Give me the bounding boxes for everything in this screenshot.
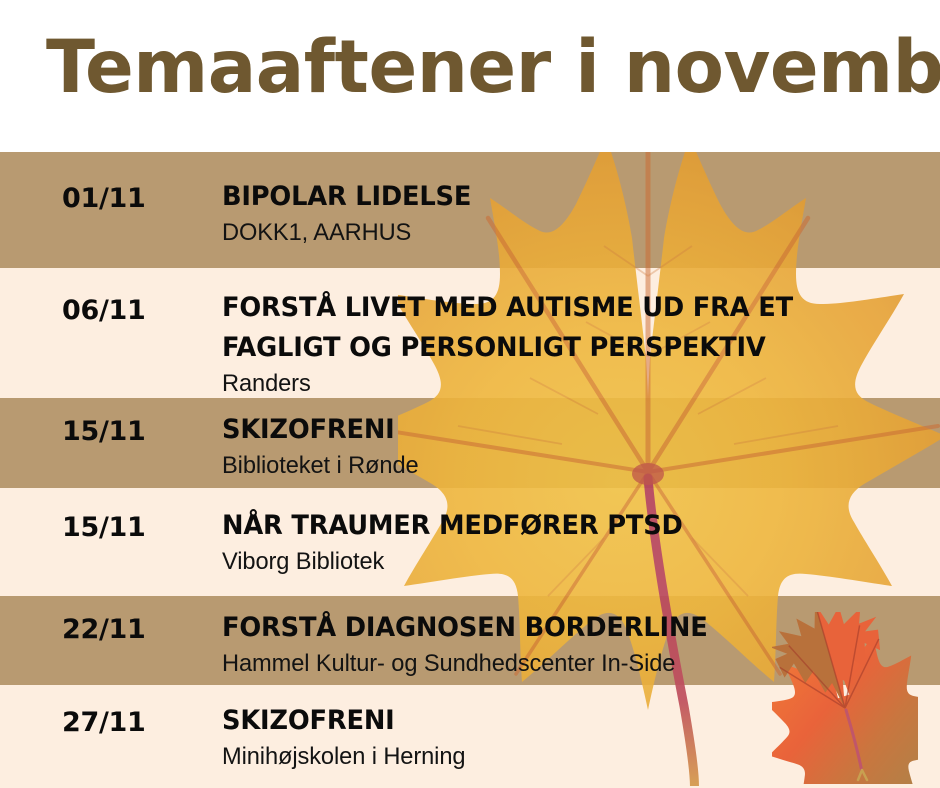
event-row-1: 01/11 BIPOLAR LIDELSE DOKK1, AARHUS [0,152,940,268]
event-date: 27/11 [62,707,146,738]
event-details: NÅR TRAUMER MEDFØRER PTSD Viborg Bibliot… [222,506,932,577]
event-title: FORSTÅ DIAGNOSEN BORDERLINE [222,608,911,648]
event-venue: Randers [222,368,921,399]
event-venue: Viborg Bibliotek [222,546,921,577]
event-title: NÅR TRAUMER MEDFØRER PTSD [222,506,911,546]
event-row-6: 27/11 SKIZOFRENI Minihøjskolen i Herning [0,685,940,788]
event-venue: Biblioteket i Rønde [222,450,921,481]
event-date: 22/11 [62,614,146,645]
event-title: BIPOLAR LIDELSE [222,177,911,217]
poster-canvas: Temaaftener i november 01/11 BIPOLAR LID… [0,0,940,788]
event-row-3: 15/11 SKIZOFRENI Biblioteket i Rønde [0,398,940,488]
event-details: FORSTÅ LIVET MED AUTISME UD FRA ET FAGLI… [222,288,932,399]
event-details: SKIZOFRENI Biblioteket i Rønde [222,410,932,481]
event-venue: Hammel Kultur- og Sundhedscenter In-Side [222,648,921,679]
title-banner: Temaaftener i november [0,0,940,152]
event-date: 06/11 [62,295,146,326]
page-title: Temaaftener i november [46,28,893,108]
event-title-line-1: FORSTÅ LIVET MED AUTISME UD FRA ET [222,288,911,328]
event-details: SKIZOFRENI Minihøjskolen i Herning [222,701,932,772]
event-venue: Minihøjskolen i Herning [222,741,921,772]
event-details: FORSTÅ DIAGNOSEN BORDERLINE Hammel Kultu… [222,608,932,679]
event-title: SKIZOFRENI [222,410,911,450]
event-title: SKIZOFRENI [222,701,911,741]
event-date: 01/11 [62,183,146,214]
event-date: 15/11 [62,512,146,543]
event-date: 15/11 [62,416,146,447]
event-venue: DOKK1, AARHUS [222,217,921,248]
event-row-4: 15/11 NÅR TRAUMER MEDFØRER PTSD Viborg B… [0,488,940,596]
event-row-5: 22/11 FORSTÅ DIAGNOSEN BORDERLINE Hammel… [0,596,940,685]
event-title-line-2: FAGLIGT OG PERSONLIGT PERSPEKTIV [222,328,911,368]
event-details: BIPOLAR LIDELSE DOKK1, AARHUS [222,177,932,248]
event-row-2: 06/11 FORSTÅ LIVET MED AUTISME UD FRA ET… [0,268,940,398]
